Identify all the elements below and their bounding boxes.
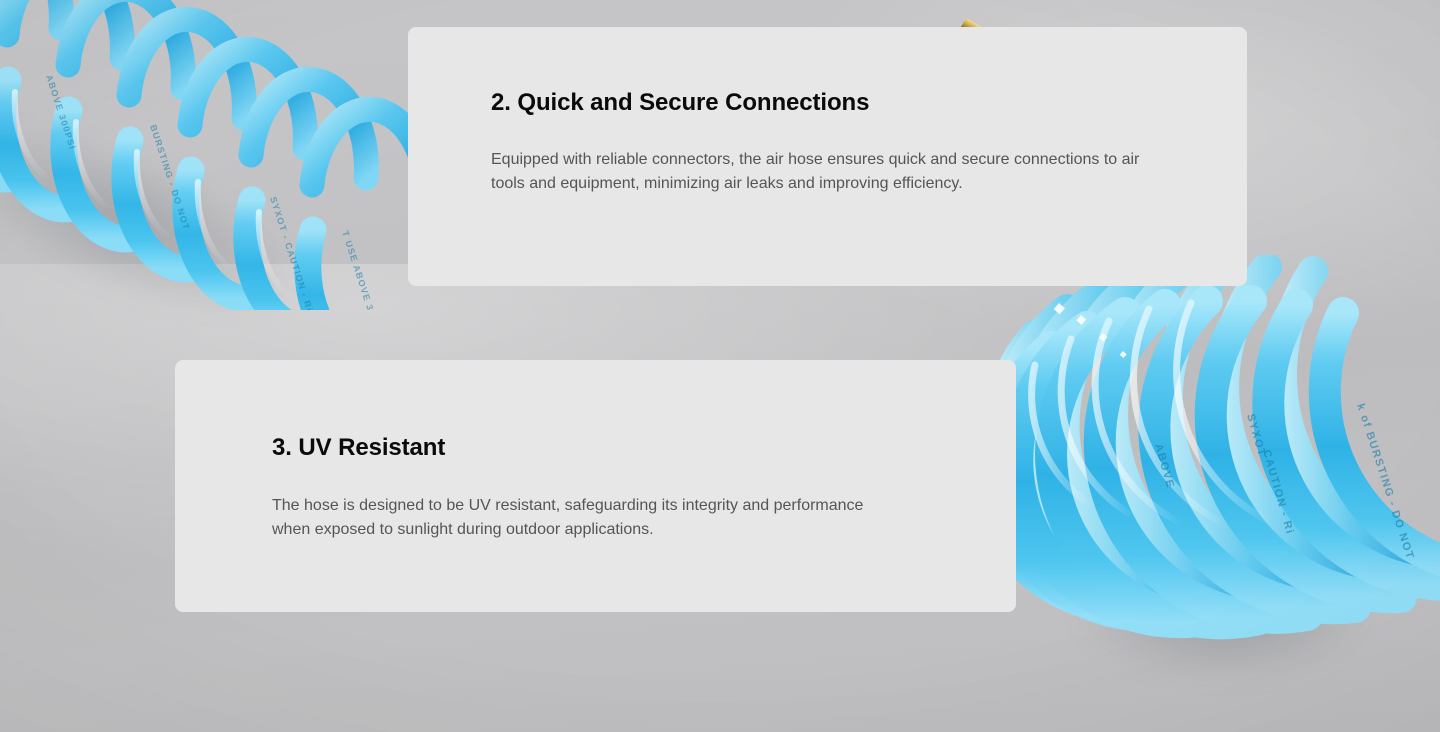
feature-card-body: The hose is designed to be UV resistant,…: [272, 494, 897, 542]
feature-card-quick-and-secure-connections: 2. Quick and Secure Connections Equipped…: [408, 27, 1247, 286]
feature-card-title: 3. UV Resistant: [272, 434, 936, 463]
product-feature-section: CAUTION ABOVE 300PSI BURSTING - DO NOT S…: [0, 0, 1440, 732]
feature-card-title: 2. Quick and Secure Connections: [491, 89, 1167, 118]
feature-card-uv-resistant: 3. UV Resistant The hose is designed to …: [175, 360, 1016, 612]
feature-card-body: Equipped with reliable connectors, the a…: [491, 148, 1167, 196]
